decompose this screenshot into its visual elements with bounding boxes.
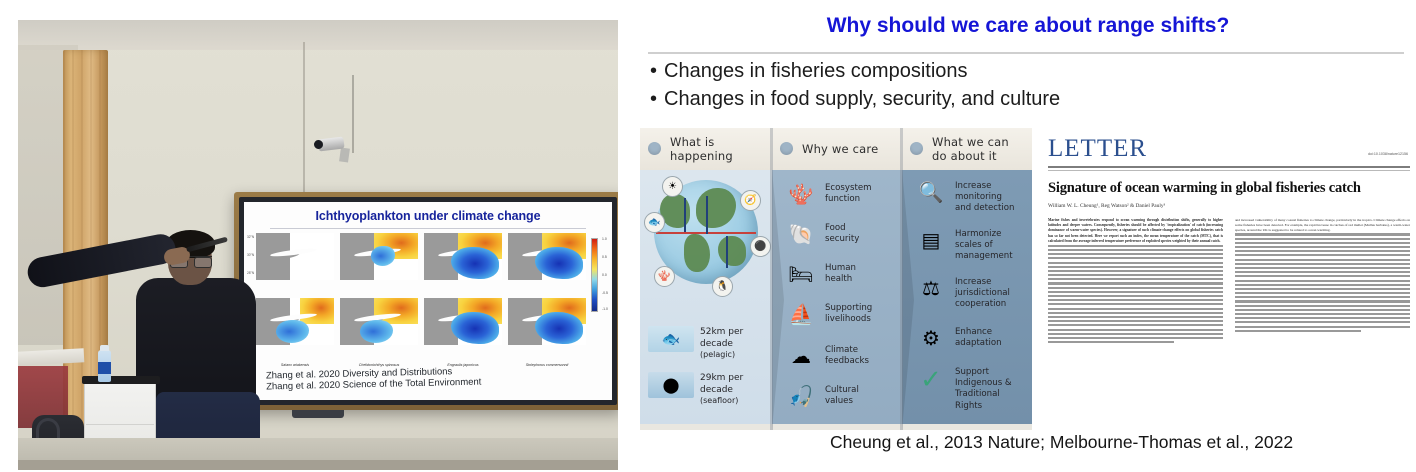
fishing-boat-icon: ⛵ xyxy=(784,300,818,330)
display-screen: Ichthyoplankton under climate change 32°… xyxy=(234,192,618,410)
stat-text: 52km per decade (pelagic) xyxy=(700,326,772,361)
scales-handshake-icon: ⚖ xyxy=(914,274,948,304)
action-item-label: Increase monitoring and detection xyxy=(955,178,1015,215)
fish-icon: 🐟 xyxy=(644,212,665,233)
colorbar-tick: 1.0 xyxy=(602,237,607,241)
tv-stand xyxy=(292,410,344,418)
species-map xyxy=(256,298,334,345)
stat-text: 29km per decade (seafloor) xyxy=(700,372,772,407)
column-separator xyxy=(900,128,903,430)
arrow-notch xyxy=(772,170,784,430)
page-title: Why should we care about range shifts? xyxy=(640,14,1416,38)
podium-top xyxy=(82,376,160,384)
article-authors: William W. L. Cheung¹, Reg Watson² & Dan… xyxy=(1048,203,1410,209)
care-item-climate-feedbacks: ☁ Climate feedbacks xyxy=(784,342,869,372)
check-mark-icon: ✓ xyxy=(914,364,948,394)
bottle-cap xyxy=(100,345,109,351)
map-colorbar: 1.0 0.5 0.0 -0.5 -1.0 xyxy=(591,238,598,312)
tv-brand-label: SONY xyxy=(583,399,598,400)
species-map xyxy=(424,298,502,345)
care-item-ecosystem-function: 🪸 Ecosystem function xyxy=(784,180,871,210)
bottle-label xyxy=(98,362,111,374)
axis-tick-label: 28°N xyxy=(247,271,254,275)
stat-qualifier: (pelagic) xyxy=(700,350,772,361)
article-title: Signature of ocean warming in global fis… xyxy=(1048,180,1410,197)
colorbar-tick: 0.5 xyxy=(602,255,607,259)
journal-section-label: LETTER xyxy=(1048,136,1410,161)
screen-citation-block: Zhang et al. 2020 Diversity and Distribu… xyxy=(266,365,482,392)
infographic-column-why-we-care: Why we care 🪸 Ecosystem function 🐚 Food … xyxy=(772,128,902,430)
action-item-support-indigenous-rights: ✓ Support Indigenous & Traditional Right… xyxy=(914,364,1012,412)
camera-mount xyxy=(339,147,350,162)
column-header-text: What we can do about it xyxy=(932,135,1009,163)
species-map xyxy=(340,233,418,280)
magnifier-icon: 🔍 xyxy=(914,178,948,208)
hand-shell-icon: 🐚 xyxy=(784,220,818,250)
action-item-label: Support Indigenous & Traditional Rights xyxy=(955,364,1012,412)
action-item-label: Increase jurisdictional cooperation xyxy=(955,274,1010,311)
screen-slide-rule xyxy=(270,228,586,229)
fish-icon: 🐟 xyxy=(648,326,694,352)
cloud-cycle-icon: ☁ xyxy=(784,342,818,372)
arrow-notch xyxy=(902,170,914,430)
screen-slide-title: Ichthyoplankton under climate change xyxy=(244,209,612,223)
article-column-left: Marine fishes and invertebrates respond … xyxy=(1048,218,1223,346)
seafloor-icon: ⚫ xyxy=(750,236,771,257)
coral-icon: 🪸 xyxy=(654,266,675,287)
sun-icon: ☀ xyxy=(662,176,683,197)
axis-tick-label: 30°N xyxy=(247,253,254,257)
cultural-values-icon: 🎣 xyxy=(784,382,818,412)
species-map xyxy=(508,233,586,280)
map-cell: Engraulis japonicus xyxy=(424,298,502,358)
species-map xyxy=(508,298,586,345)
camera-cable xyxy=(352,75,354,153)
screen-bezel: Ichthyoplankton under climate change 32°… xyxy=(239,197,617,405)
paper-rule xyxy=(1048,166,1410,168)
slide-content: Why should we care about range shifts? •… xyxy=(640,0,1416,472)
infographic-figure: What is happening ☀ 🐟 🧭 ⚫ 🪸 🐧 🐟 xyxy=(640,128,1032,430)
presentation-photo: Ichthyoplankton under climate change 32°… xyxy=(18,20,618,470)
action-item-harmonize-scales: ▤ Harmonize scales of management xyxy=(914,226,1013,263)
podium-seam xyxy=(86,424,154,425)
species-label: Stolephorus commersonnii xyxy=(508,363,586,367)
stat-value: 52km per decade xyxy=(700,326,772,350)
action-item-label: Harmonize scales of management xyxy=(955,226,1013,263)
colorbar-tick: -0.5 xyxy=(602,291,608,295)
list-item: •Changes in fisheries compositions xyxy=(650,58,1416,86)
species-map-grid: 32°N 30°N 28°N Collia mystus xyxy=(256,233,586,358)
bullet-text: Changes in food supply, security, and cu… xyxy=(664,88,1060,110)
layers-icon: ▤ xyxy=(914,226,948,256)
gear-hand-icon: ⚙ xyxy=(914,324,948,354)
care-item-label: Supporting livelihoods xyxy=(825,300,872,325)
care-item-label: Ecosystem function xyxy=(825,180,871,205)
map-cell: Stolephorus commersonnii xyxy=(508,298,586,358)
action-item-increase-monitoring: 🔍 Increase monitoring and detection xyxy=(914,178,1015,215)
coral-reef-icon: 🪸 xyxy=(784,180,818,210)
article-abstract-right: and increased vulnerability of many coas… xyxy=(1235,218,1410,233)
column-header-text: What is happening xyxy=(670,135,733,163)
axis-tick-label: 32°N xyxy=(247,235,254,239)
map-cell: Hypoatherina valenciennei xyxy=(424,233,502,293)
article-abstract-left: Marine fishes and invertebrates respond … xyxy=(1048,218,1223,244)
species-map xyxy=(340,298,418,345)
title-divider xyxy=(648,52,1404,54)
action-item-jurisdictional-cooperation: ⚖ Increase jurisdictional cooperation xyxy=(914,274,1010,311)
map-cell: Collia mystus xyxy=(340,233,418,293)
slide-on-screen: Ichthyoplankton under climate change 32°… xyxy=(244,202,612,400)
care-item-label: Food security xyxy=(825,220,859,245)
stat-qualifier: (seafloor) xyxy=(700,396,772,407)
doi-text: doi:10.1038/nature12156 xyxy=(1368,152,1408,156)
action-item-label: Enhance adaptation xyxy=(955,324,1002,349)
bullet-dot-icon xyxy=(780,142,793,155)
bullet-marker: • xyxy=(650,88,657,110)
column-header-text: Why we care xyxy=(802,142,878,156)
map-cell: 32°N 30°N 28°N xyxy=(256,233,334,293)
source-citation: Cheung et al., 2013 Nature; Melbourne-Th… xyxy=(830,432,1293,453)
hospital-bed-icon: 🛏 xyxy=(784,260,818,290)
article-body-right xyxy=(1235,233,1410,331)
article-columns: Marine fishes and invertebrates respond … xyxy=(1048,218,1410,346)
colorbar-tick: 0.0 xyxy=(602,273,607,277)
species-map xyxy=(256,233,334,280)
care-item-label: Human health xyxy=(825,260,856,285)
paper-rule xyxy=(1048,170,1410,171)
care-item-supporting-livelihoods: ⛵ Supporting livelihoods xyxy=(784,300,872,330)
seafloor-icon: ⬤ xyxy=(648,372,694,398)
map-cell: Salanx ariakensis xyxy=(256,298,334,358)
penguin-icon: 🐧 xyxy=(712,276,733,297)
action-item-enhance-adaptation: ⚙ Enhance adaptation xyxy=(914,324,1002,354)
care-item-label: Cultural values xyxy=(825,382,859,407)
species-map xyxy=(424,233,502,280)
floor xyxy=(18,460,618,470)
shift-arrow xyxy=(684,198,686,232)
bullet-text: Changes in fisheries compositions xyxy=(664,60,968,82)
care-item-cultural-values: 🎣 Cultural values xyxy=(784,382,859,412)
stat-pelagic: 🐟 52km per decade (pelagic) xyxy=(648,326,772,361)
article-body-left xyxy=(1048,245,1223,343)
column-separator xyxy=(770,128,773,430)
stat-seafloor: ⬤ 29km per decade (seafloor) xyxy=(648,372,772,407)
room-ceiling xyxy=(18,20,618,50)
stat-value: 29km per decade xyxy=(700,372,772,396)
species-label: Salanx ariakensis xyxy=(256,363,334,367)
article-column-right: and increased vulnerability of many coas… xyxy=(1235,218,1410,346)
care-item-food-security: 🐚 Food security xyxy=(784,220,859,250)
map-cell: Chelidonichthys spinosus xyxy=(340,298,418,358)
map-cell: Larimichthys polyactis xyxy=(508,233,586,293)
bullet-dot-icon xyxy=(910,142,923,155)
bullet-list: •Changes in fisheries compositions •Chan… xyxy=(650,58,1416,113)
journal-article-figure: LETTER doi:10.1038/nature12156 Signature… xyxy=(1032,128,1416,430)
bullet-marker: • xyxy=(650,60,657,82)
care-item-human-health: 🛏 Human health xyxy=(784,260,856,290)
care-item-label: Climate feedbacks xyxy=(825,342,869,367)
bullet-dot-icon xyxy=(648,142,661,155)
infographic-column-what-we-can-do: What we can do about it 🔍 Increase monit… xyxy=(902,128,1032,430)
list-item: •Changes in food supply, security, and c… xyxy=(650,86,1416,114)
compass-icon: 🧭 xyxy=(740,190,761,211)
shift-arrow xyxy=(706,196,708,234)
infographic-column-what-is-happening: What is happening ☀ 🐟 🧭 ⚫ 🪸 🐧 🐟 xyxy=(640,128,772,430)
colorbar-tick: -1.0 xyxy=(602,307,608,311)
shift-arrow xyxy=(726,236,728,268)
